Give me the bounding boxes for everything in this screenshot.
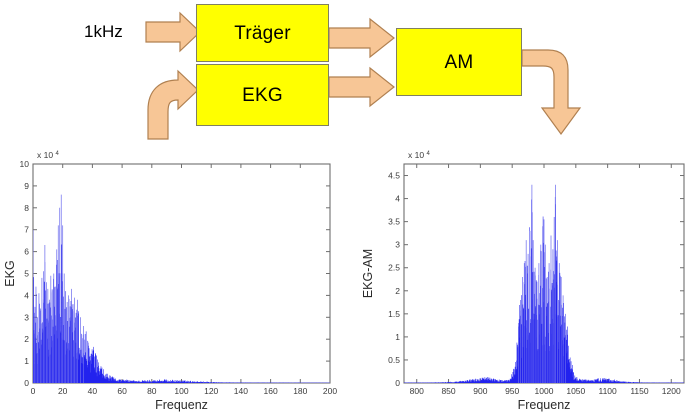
x-tick-label: 950 [505, 386, 519, 396]
x-tick-label: 100 [174, 386, 188, 396]
arrow-input-1khz-icon [146, 13, 200, 51]
x-axis-title: Frequenz [518, 398, 571, 412]
axis-exponent-label: x 10 4 [408, 150, 430, 160]
x-tick-label: 180 [293, 386, 307, 396]
block-diagram: 1kHz Träger EKG AM [0, 0, 697, 140]
y-tick-label: 8 [24, 203, 29, 213]
y-tick-label: 6 [24, 247, 29, 257]
block-ekg-label: EKG [242, 86, 283, 105]
y-tick-label: 0 [24, 378, 29, 388]
block-am-label: AM [445, 53, 474, 72]
x-axis-title: Frequenz [155, 398, 208, 412]
x-tick-label: 140 [234, 386, 248, 396]
y-axis-title: EKG-AM [361, 249, 375, 298]
y-tick-label: 1 [395, 332, 400, 342]
x-tick-label: 900 [473, 386, 487, 396]
y-tick-label: 3.5 [388, 217, 400, 227]
x-tick-label: 200 [323, 386, 337, 396]
diagram-arrows [0, 0, 697, 140]
block-ekg[interactable]: EKG [196, 64, 329, 126]
x-tick-label: 160 [264, 386, 278, 396]
x-tick-label: 1050 [566, 386, 585, 396]
y-tick-label: 3 [24, 312, 29, 322]
x-tick-label: 1100 [598, 386, 617, 396]
spectrum-peaks [33, 195, 83, 383]
block-traeger[interactable]: Träger [196, 4, 329, 62]
screenshot-root: 1kHz Träger EKG AM 020406080100120140160… [0, 0, 697, 420]
x-tick-label: 40 [88, 386, 98, 396]
arrow-am-output-icon [522, 50, 580, 134]
arrow-traeger-to-am-icon [329, 19, 394, 57]
x-tick-label: 120 [204, 386, 218, 396]
x-tick-label: 80 [147, 386, 157, 396]
x-tick-label: 20 [58, 386, 68, 396]
y-tick-label: 5 [24, 269, 29, 279]
y-tick-label: 1 [24, 356, 29, 366]
input-frequency-label: 1kHz [84, 22, 123, 42]
arrow-ekg-to-am-icon [329, 68, 394, 106]
axis-exponent-label: x 10 4 [37, 150, 59, 160]
spectrum-series [33, 195, 330, 383]
y-tick-label: 0 [395, 378, 400, 388]
y-tick-label: 1.5 [388, 309, 400, 319]
x-tick-label: 850 [441, 386, 455, 396]
x-tick-label: 0 [31, 386, 36, 396]
y-tick-label: 7 [24, 225, 29, 235]
x-tick-label: 1150 [630, 386, 649, 396]
arrow-ekg-feedback-icon [148, 71, 198, 139]
x-tick-label: 800 [410, 386, 424, 396]
x-tick-label: 60 [117, 386, 127, 396]
y-tick-label: 2 [24, 334, 29, 344]
y-tick-label: 10 [20, 159, 30, 169]
y-tick-label: 2.5 [388, 263, 400, 273]
y-tick-label: 4.5 [388, 171, 400, 181]
chart-ekg-am-spectrum: 8008509009501000105011001150120000.511.5… [350, 140, 697, 420]
chart-ekg-spectrum: 020406080100120140160180200012345678910x… [0, 140, 350, 420]
x-tick-label: 1200 [662, 386, 681, 396]
y-tick-label: 9 [24, 181, 29, 191]
y-tick-label: 0.5 [388, 355, 400, 365]
x-tick-label: 1000 [535, 386, 554, 396]
y-axis-title: EKG [3, 260, 17, 286]
y-tick-label: 4 [395, 194, 400, 204]
block-traeger-label: Träger [234, 24, 290, 43]
y-tick-label: 4 [24, 290, 29, 300]
y-tick-label: 3 [395, 240, 400, 250]
block-am[interactable]: AM [396, 28, 522, 96]
y-tick-label: 2 [395, 286, 400, 296]
spectrum-series [404, 185, 684, 383]
